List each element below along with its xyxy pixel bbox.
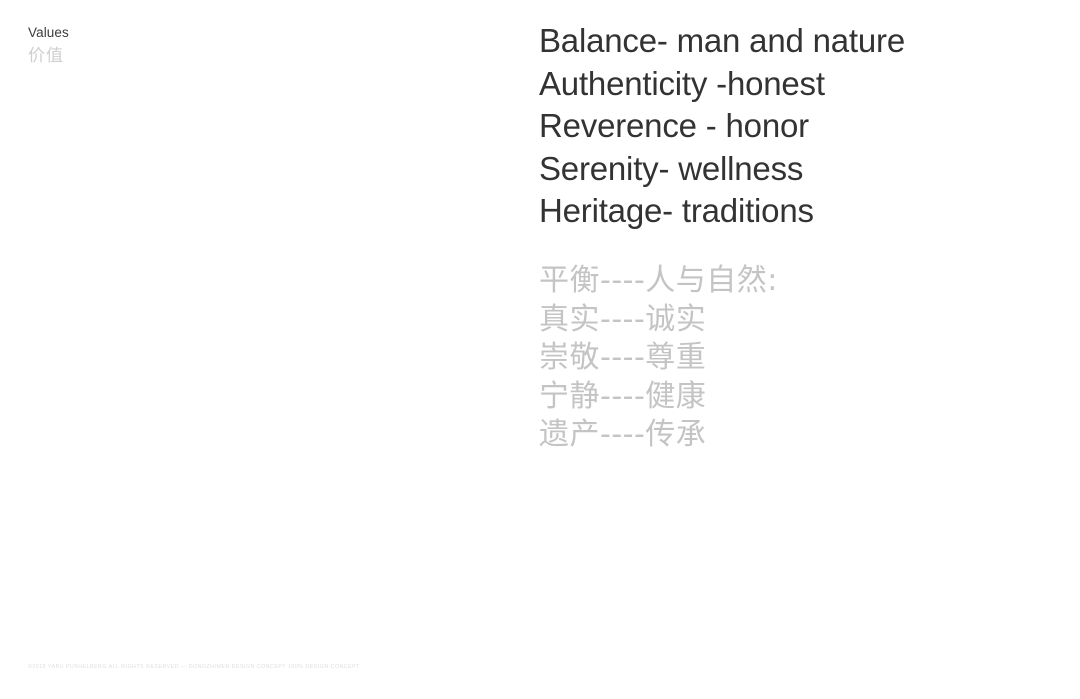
section-label-chinese: 价值	[28, 45, 328, 67]
value-line-chinese-authenticity: 真实----诚实	[539, 301, 1039, 340]
value-line-reverence: Reverence - honor	[539, 105, 1039, 148]
values-list-chinese: 平衡----人与自然: 真实----诚实 崇敬----尊重 宁静----健康 遗…	[539, 262, 1039, 455]
value-line-heritage: Heritage- traditions	[539, 190, 1039, 233]
footer-copyright: ©2018 YABU PUSHELBERG ALL RIGHTS RESERVE…	[28, 663, 360, 671]
value-line-chinese-serenity: 宁静----健康	[539, 378, 1039, 417]
value-line-chinese-balance: 平衡----人与自然:	[539, 262, 1039, 301]
section-label-english: Values	[28, 24, 328, 41]
slide-canvas: Values 价值 Balance- man and nature Authen…	[0, 0, 1080, 699]
value-line-balance: Balance- man and nature	[539, 20, 1039, 63]
value-line-authenticity: Authenticity -honest	[539, 63, 1039, 106]
value-line-serenity: Serenity- wellness	[539, 148, 1039, 191]
value-line-chinese-reverence: 崇敬----尊重	[539, 339, 1039, 378]
section-label: Values 价值	[28, 24, 328, 67]
values-list-english: Balance- man and nature Authenticity -ho…	[539, 20, 1039, 233]
value-line-chinese-heritage: 遗产----传承	[539, 416, 1039, 455]
